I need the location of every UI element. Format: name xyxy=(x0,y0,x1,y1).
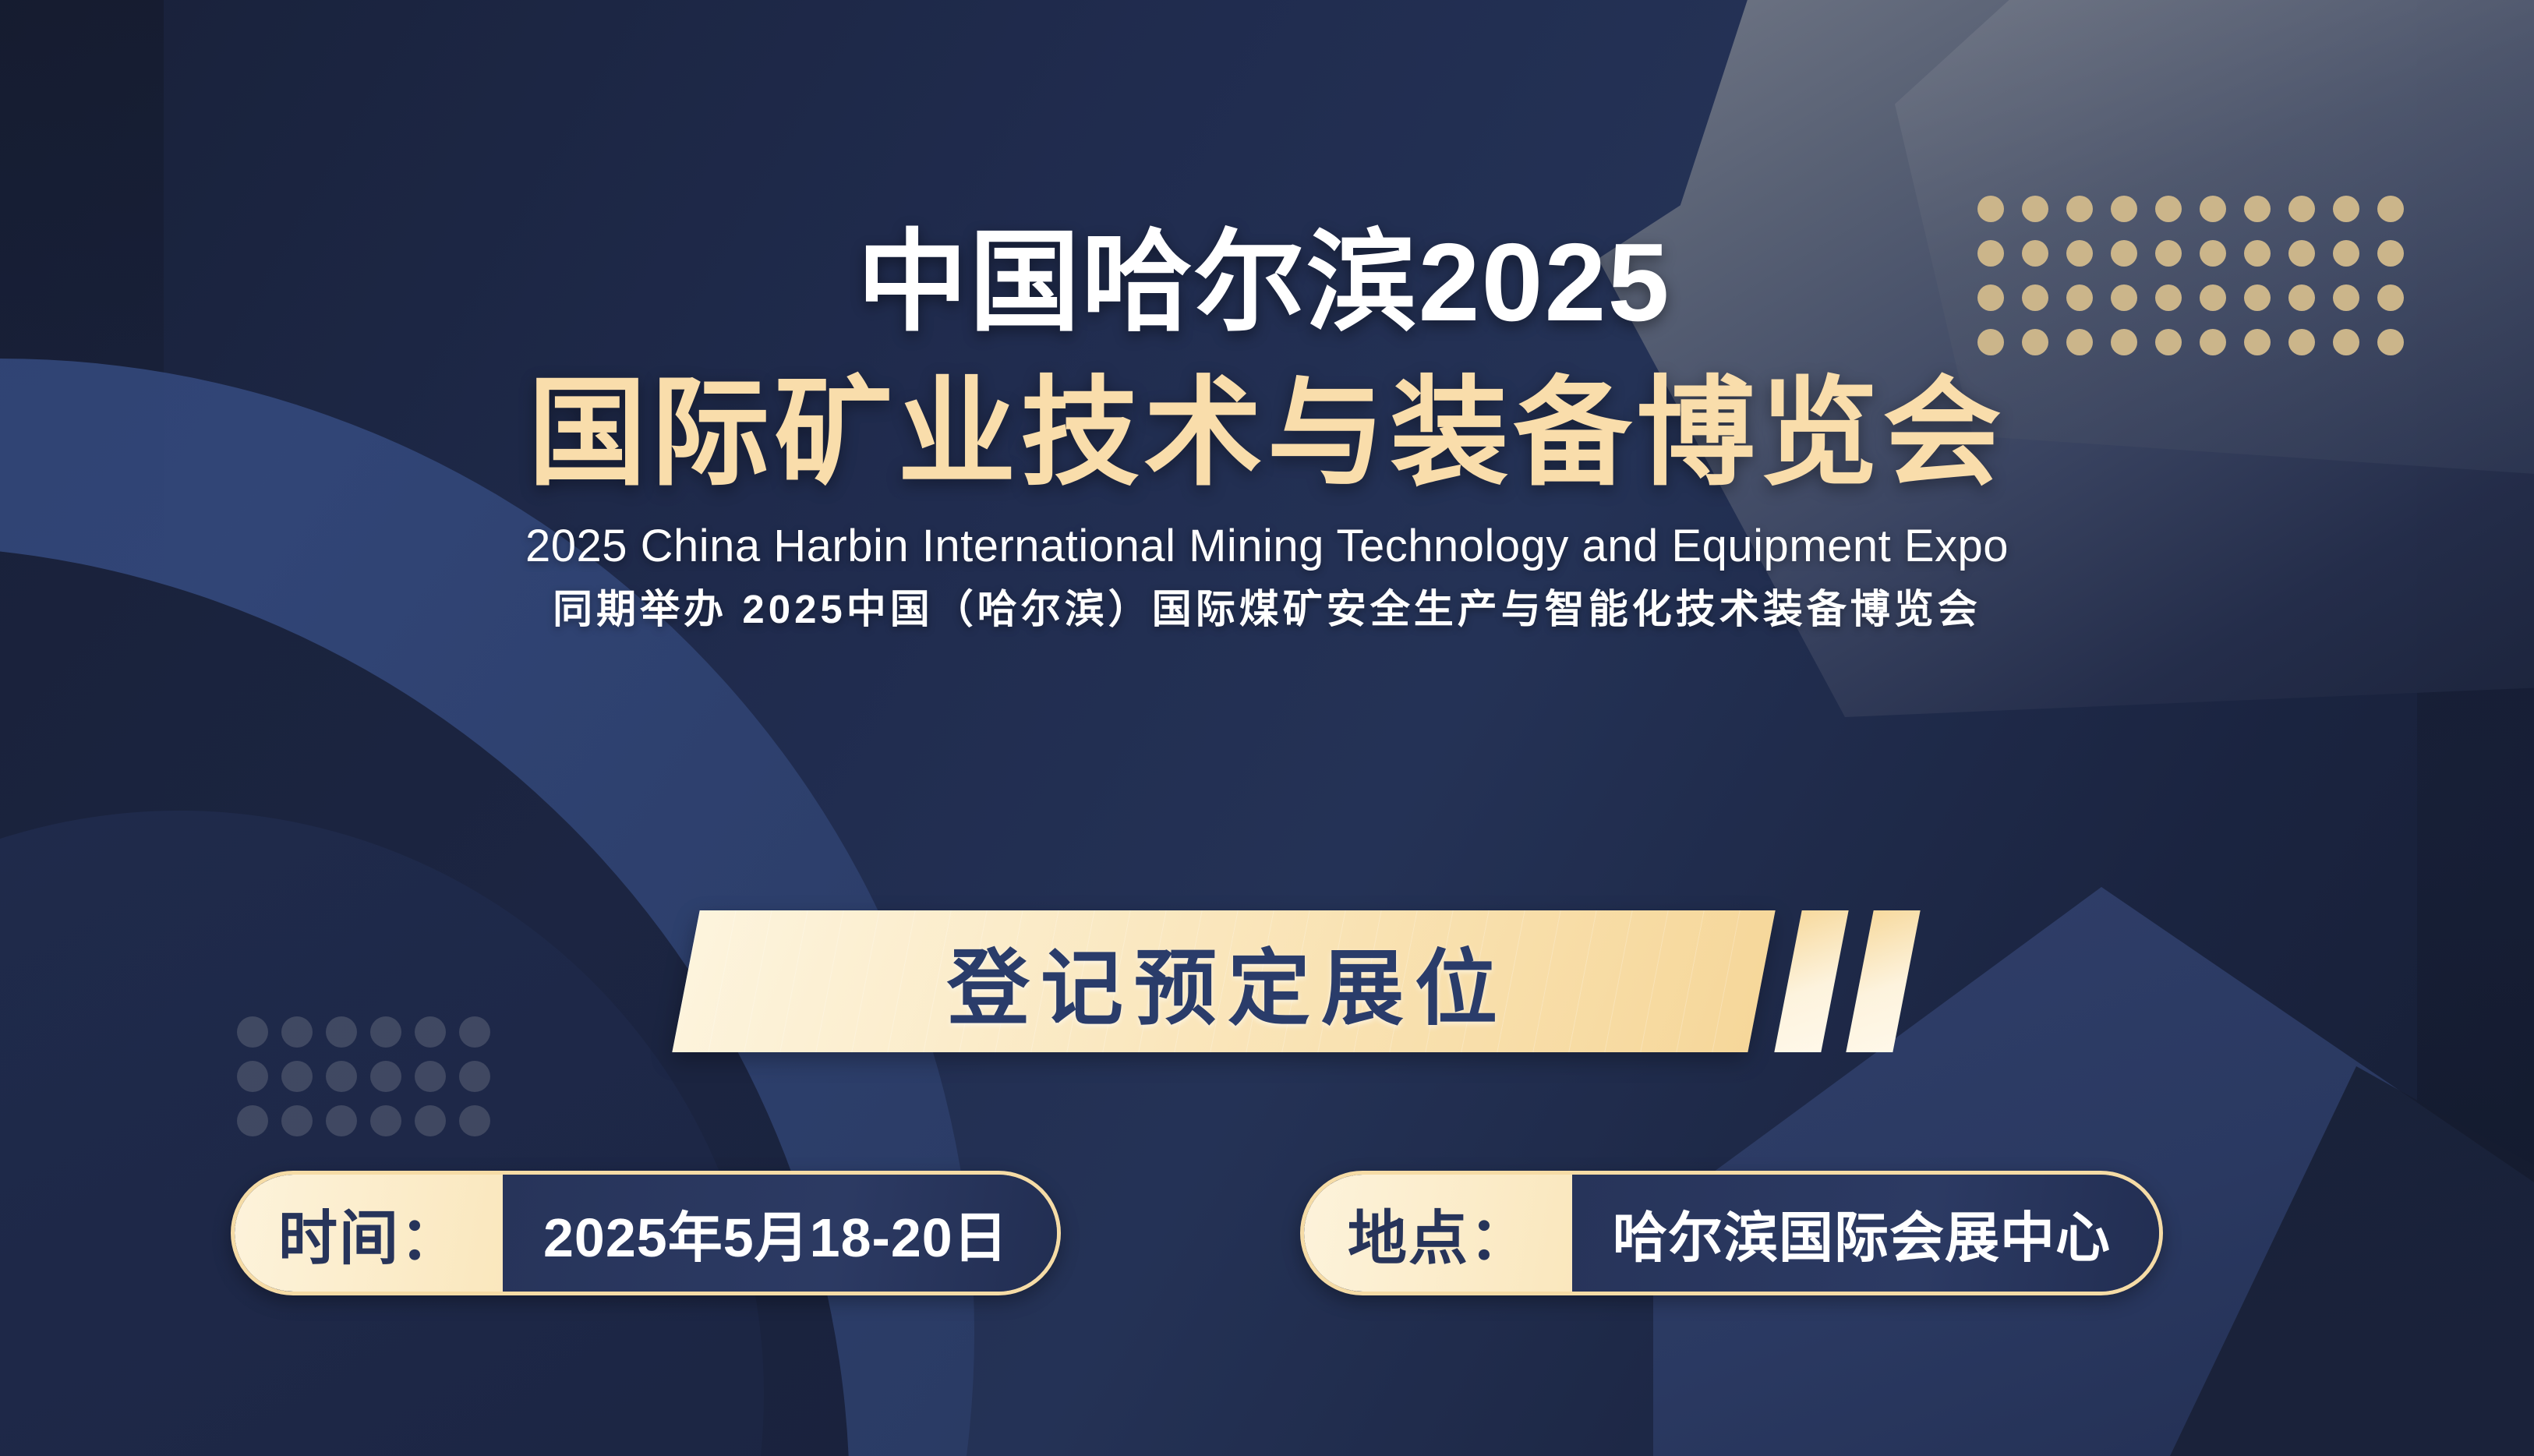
event-promo-banner: 中国哈尔滨2025 国际矿业技术与装备博览会 2025 China Harbin… xyxy=(0,0,2534,1456)
event-date-label: 时间： xyxy=(235,1175,503,1292)
event-venue-label: 地点： xyxy=(1304,1175,1572,1292)
event-title-sub: 国际矿业技术与装备博览会 xyxy=(528,374,2006,493)
register-cta[interactable]: 登记预定展位 xyxy=(686,910,1793,1052)
event-date-value: 2025年5月18-20日 xyxy=(503,1175,1057,1292)
event-title-english: 2025 China Harbin International Mining T… xyxy=(525,524,2009,569)
event-venue-value: 哈尔滨国际会展中心 xyxy=(1572,1175,2159,1292)
cta-label: 登记预定展位 xyxy=(686,910,1762,1052)
event-title-main: 中国哈尔滨2025 xyxy=(857,228,1677,338)
event-date-pill: 时间： 2025年5月18-20日 xyxy=(231,1171,1061,1295)
event-title-concurrent: 同期举办 2025中国（哈尔滨）国际煤矿安全生产与智能化技术装备博览会 xyxy=(553,589,1981,629)
event-venue-pill: 地点： 哈尔滨国际会展中心 xyxy=(1300,1171,2163,1295)
